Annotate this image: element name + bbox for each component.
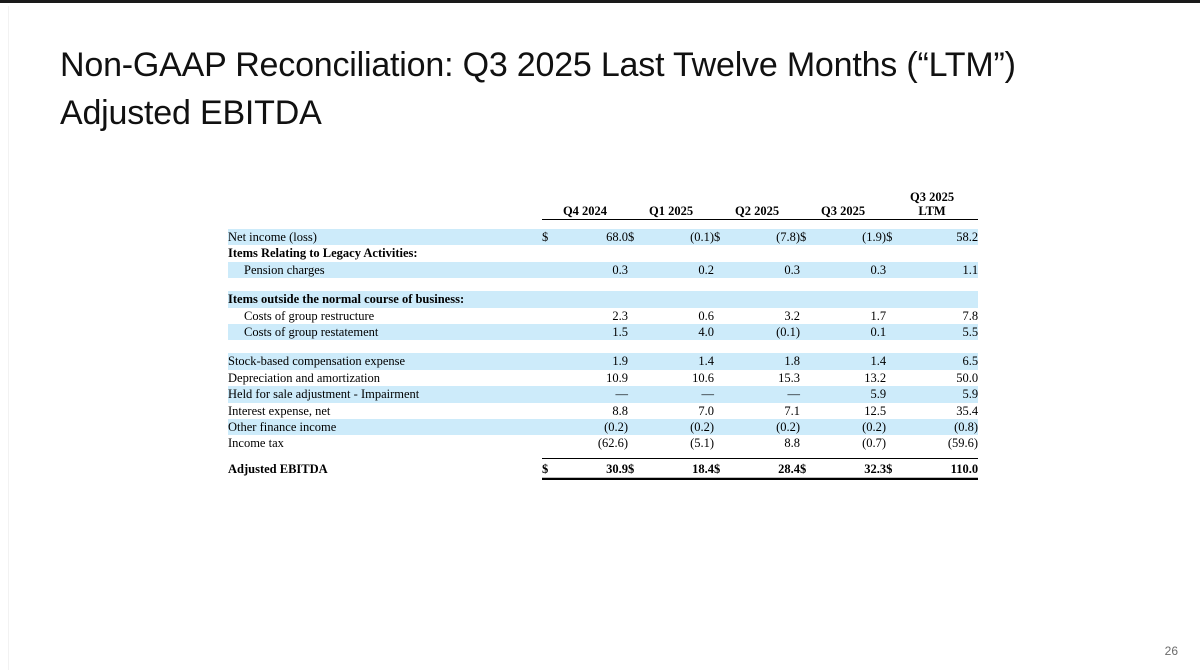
row-value-q1-2025: — (648, 386, 714, 402)
page-title: Non-GAAP Reconciliation: Q3 2025 Last Tw… (60, 41, 1130, 138)
row-currency-q3-2025 (800, 435, 820, 451)
row-currency-q3-2025-ltm (886, 419, 906, 435)
row-value-q2-2025: 15.3 (734, 370, 800, 386)
row-value-q1-2025: 1.4 (648, 353, 714, 369)
row-value-q3-2025-ltm: 50.0 (906, 370, 978, 386)
row-currency-q2-2025 (714, 324, 734, 340)
row-value-q1-2025 (648, 245, 714, 261)
row-currency-q1-2025 (628, 245, 648, 261)
row-currency-q4-2024 (542, 419, 562, 435)
row-currency-q3-2025 (800, 353, 820, 369)
row-value-q4-2024: 10.9 (562, 370, 628, 386)
row-currency-q4-2024 (542, 245, 562, 261)
row-currency-q1-2025 (628, 353, 648, 369)
table-body: Net income (loss)$68.0$(0.1)$(7.8)$(1.9)… (228, 229, 978, 452)
total-currency-q4-2024: $ (542, 459, 562, 480)
row-value-q4-2024: 1.9 (562, 353, 628, 369)
row-value-q3-2025: (1.9) (820, 229, 886, 245)
row-currency-q3-2025-ltm (886, 245, 906, 261)
row-value-q1-2025: (5.1) (648, 435, 714, 451)
table-row: Costs of group restatement1.54.0(0.1)0.1… (228, 324, 978, 340)
row-currency-q1-2025 (628, 370, 648, 386)
column-header-q1-2025: Q1 2025 (628, 175, 714, 220)
row-label: Items outside the normal course of busin… (228, 291, 542, 307)
row-value-q1-2025: 0.2 (648, 262, 714, 278)
row-currency-q3-2025 (800, 308, 820, 324)
total-currency-q1-2025: $ (628, 459, 648, 480)
total-value-q1-2025: 18.4 (648, 459, 714, 480)
row-value-q4-2024: 0.3 (562, 262, 628, 278)
row-value-q3-2025: 13.2 (820, 370, 886, 386)
row-currency-q2-2025 (714, 308, 734, 324)
row-currency-q3-2025 (800, 262, 820, 278)
row-currency-q1-2025 (628, 324, 648, 340)
row-currency-q3-2025-ltm (886, 386, 906, 402)
row-value-q1-2025: 7.0 (648, 403, 714, 419)
header-blank (228, 175, 542, 220)
table-header-row: Q4 2024 Q1 2025 Q2 2025 Q3 2025 Q3 2025 … (228, 175, 978, 220)
row-value-q3-2025: 1.4 (820, 353, 886, 369)
row-currency-q3-2025 (800, 403, 820, 419)
row-label: Costs of group restatement (228, 324, 542, 340)
total-currency-q2-2025: $ (714, 459, 734, 480)
row-value-q2-2025: 3.2 (734, 308, 800, 324)
left-edge-rule (8, 6, 9, 670)
row-currency-q3-2025 (800, 245, 820, 261)
total-value-q4-2024: 30.9 (562, 459, 628, 480)
row-value-q4-2024 (562, 245, 628, 261)
row-value-q1-2025: (0.1) (648, 229, 714, 245)
total-currency-q3-2025-ltm: $ (886, 459, 906, 480)
row-currency-q4-2024 (542, 308, 562, 324)
column-header-q1-2025-line1: Q1 2025 (628, 204, 714, 219)
column-header-q3-2025-ltm-line1: Q3 2025 (886, 190, 978, 205)
row-value-q3-2025-ltm: 58.2 (906, 229, 978, 245)
table-row: Stock-based compensation expense1.91.41.… (228, 353, 978, 369)
column-header-q3-2025-line1: Q3 2025 (800, 204, 886, 219)
row-value-q3-2025-ltm (906, 291, 978, 307)
table-gap-row (228, 278, 978, 291)
row-value-q1-2025: 10.6 (648, 370, 714, 386)
row-value-q1-2025 (648, 291, 714, 307)
row-currency-q1-2025 (628, 262, 648, 278)
row-value-q3-2025: 0.3 (820, 262, 886, 278)
row-label: Held for sale adjustment - Impairment (228, 386, 542, 402)
row-currency-q3-2025-ltm (886, 353, 906, 369)
column-header-q3-2025-ltm: Q3 2025 LTM (886, 175, 978, 220)
row-value-q4-2024: (62.6) (562, 435, 628, 451)
total-currency-q3-2025: $ (800, 459, 820, 480)
row-value-q3-2025-ltm: (0.8) (906, 419, 978, 435)
row-label: Pension charges (228, 262, 542, 278)
row-currency-q3-2025-ltm (886, 262, 906, 278)
row-value-q3-2025 (820, 291, 886, 307)
row-value-q1-2025: 4.0 (648, 324, 714, 340)
row-currency-q1-2025 (628, 291, 648, 307)
row-value-q3-2025-ltm: 7.8 (906, 308, 978, 324)
row-value-q4-2024: 1.5 (562, 324, 628, 340)
row-value-q2-2025: 0.3 (734, 262, 800, 278)
row-label: Stock-based compensation expense (228, 353, 542, 369)
row-currency-q1-2025 (628, 386, 648, 402)
row-currency-q2-2025 (714, 370, 734, 386)
row-currency-q3-2025 (800, 291, 820, 307)
table-row: Items outside the normal course of busin… (228, 291, 978, 307)
row-currency-q4-2024 (542, 370, 562, 386)
slide-canvas: Non-GAAP Reconciliation: Q3 2025 Last Tw… (0, 0, 1200, 670)
row-currency-q3-2025 (800, 386, 820, 402)
row-value-q2-2025: 7.1 (734, 403, 800, 419)
row-value-q4-2024 (562, 291, 628, 307)
row-currency-q2-2025 (714, 291, 734, 307)
row-currency-q1-2025 (628, 419, 648, 435)
row-value-q4-2024: 2.3 (562, 308, 628, 324)
row-currency-q3-2025 (800, 419, 820, 435)
row-value-q2-2025: — (734, 386, 800, 402)
row-currency-q2-2025 (714, 386, 734, 402)
row-label: Interest expense, net (228, 403, 542, 419)
row-label: Costs of group restructure (228, 308, 542, 324)
row-currency-q3-2025: $ (800, 229, 820, 245)
row-value-q3-2025-ltm: 5.9 (906, 386, 978, 402)
row-value-q2-2025: 1.8 (734, 353, 800, 369)
row-currency-q4-2024 (542, 435, 562, 451)
row-currency-q4-2024 (542, 403, 562, 419)
row-currency-q2-2025 (714, 403, 734, 419)
row-value-q2-2025: 8.8 (734, 435, 800, 451)
row-currency-q1-2025 (628, 435, 648, 451)
row-currency-q3-2025-ltm (886, 291, 906, 307)
row-currency-q1-2025 (628, 403, 648, 419)
column-header-q3-2025: Q3 2025 (800, 175, 886, 220)
row-value-q3-2025: (0.2) (820, 419, 886, 435)
row-currency-q2-2025 (714, 245, 734, 261)
column-header-q3-2025-ltm-line2: LTM (886, 204, 978, 219)
table-row: Other finance income(0.2)(0.2)(0.2)(0.2)… (228, 419, 978, 435)
total-row-adjusted-ebitda: Adjusted EBITDA $ 30.9 $ 18.4 $ 28.4 $ 3… (228, 459, 978, 480)
row-value-q2-2025 (734, 245, 800, 261)
row-currency-q4-2024 (542, 291, 562, 307)
row-value-q3-2025-ltm (906, 245, 978, 261)
row-value-q3-2025: (0.7) (820, 435, 886, 451)
row-currency-q3-2025 (800, 324, 820, 340)
total-value-q3-2025: 32.3 (820, 459, 886, 480)
reconciliation-table-container: Q4 2024 Q1 2025 Q2 2025 Q3 2025 Q3 2025 … (228, 175, 976, 480)
row-value-q3-2025-ltm: (59.6) (906, 435, 978, 451)
row-value-q2-2025 (734, 291, 800, 307)
row-label: Other finance income (228, 419, 542, 435)
page-number: 26 (1165, 644, 1178, 658)
row-currency-q4-2024 (542, 353, 562, 369)
row-currency-q3-2025-ltm (886, 308, 906, 324)
table-row: Costs of group restructure2.30.63.21.77.… (228, 308, 978, 324)
column-header-q4-2024-line1: Q4 2024 (542, 204, 628, 219)
row-value-q4-2024: 68.0 (562, 229, 628, 245)
column-header-q4-2024: Q4 2024 (542, 175, 628, 220)
table-row: Held for sale adjustment - Impairment———… (228, 386, 978, 402)
row-value-q1-2025: 0.6 (648, 308, 714, 324)
row-value-q1-2025: (0.2) (648, 419, 714, 435)
row-value-q2-2025: (0.2) (734, 419, 800, 435)
row-value-q3-2025 (820, 245, 886, 261)
row-currency-q2-2025: $ (714, 229, 734, 245)
total-row-label: Adjusted EBITDA (228, 459, 542, 480)
table-row: Income tax(62.6)(5.1)8.8(0.7)(59.6) (228, 435, 978, 451)
row-value-q3-2025-ltm: 5.5 (906, 324, 978, 340)
row-label: Depreciation and amortization (228, 370, 542, 386)
row-currency-q4-2024: $ (542, 229, 562, 245)
total-value-q2-2025: 28.4 (734, 459, 800, 480)
table-gap-row (228, 340, 978, 353)
row-label: Income tax (228, 435, 542, 451)
row-currency-q3-2025-ltm (886, 370, 906, 386)
row-value-q3-2025: 12.5 (820, 403, 886, 419)
row-currency-q4-2024 (542, 324, 562, 340)
row-currency-q2-2025 (714, 419, 734, 435)
row-value-q3-2025-ltm: 35.4 (906, 403, 978, 419)
row-currency-q4-2024 (542, 386, 562, 402)
row-value-q4-2024: — (562, 386, 628, 402)
row-label: Items Relating to Legacy Activities: (228, 245, 542, 261)
row-value-q3-2025: 1.7 (820, 308, 886, 324)
row-value-q3-2025-ltm: 1.1 (906, 262, 978, 278)
row-currency-q3-2025-ltm (886, 435, 906, 451)
row-currency-q3-2025-ltm (886, 324, 906, 340)
row-currency-q1-2025 (628, 308, 648, 324)
header-spacer-row (228, 220, 978, 230)
row-currency-q3-2025-ltm: $ (886, 229, 906, 245)
row-currency-q2-2025 (714, 262, 734, 278)
table-row: Pension charges0.30.20.30.31.1 (228, 262, 978, 278)
row-currency-q2-2025 (714, 435, 734, 451)
table-row: Items Relating to Legacy Activities: (228, 245, 978, 261)
row-currency-q3-2025 (800, 370, 820, 386)
row-value-q3-2025: 5.9 (820, 386, 886, 402)
row-currency-q4-2024 (542, 262, 562, 278)
row-value-q3-2025-ltm: 6.5 (906, 353, 978, 369)
reconciliation-table: Q4 2024 Q1 2025 Q2 2025 Q3 2025 Q3 2025 … (228, 175, 978, 480)
row-currency-q1-2025: $ (628, 229, 648, 245)
row-currency-q2-2025 (714, 353, 734, 369)
total-value-q3-2025-ltm: 110.0 (906, 459, 978, 480)
row-value-q3-2025: 0.1 (820, 324, 886, 340)
column-header-q2-2025-line1: Q2 2025 (714, 204, 800, 219)
row-currency-q3-2025-ltm (886, 403, 906, 419)
table-row: Interest expense, net8.87.07.112.535.4 (228, 403, 978, 419)
row-value-q2-2025: (7.8) (734, 229, 800, 245)
row-value-q2-2025: (0.1) (734, 324, 800, 340)
table-row: Net income (loss)$68.0$(0.1)$(7.8)$(1.9)… (228, 229, 978, 245)
column-header-q2-2025: Q2 2025 (714, 175, 800, 220)
row-value-q4-2024: (0.2) (562, 419, 628, 435)
table-row: Depreciation and amortization10.910.615.… (228, 370, 978, 386)
row-value-q4-2024: 8.8 (562, 403, 628, 419)
row-label: Net income (loss) (228, 229, 542, 245)
